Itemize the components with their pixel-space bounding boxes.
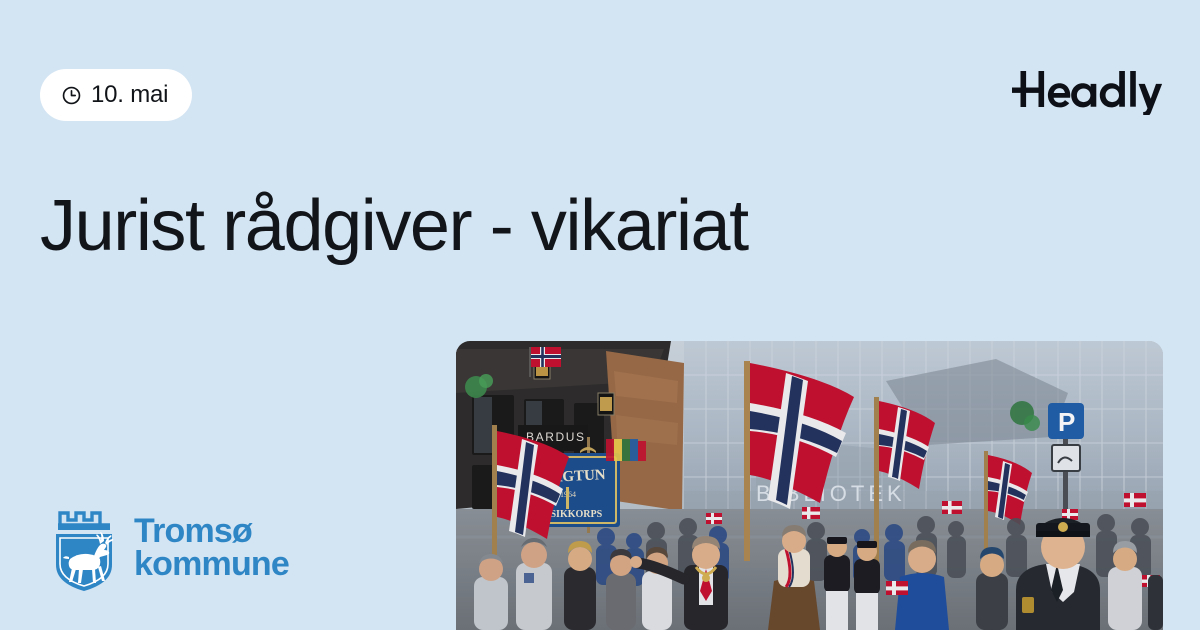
municipality-name-line-1: Tromsø [134, 515, 289, 548]
clock-icon [61, 85, 82, 106]
social-share-card: 10. mai Jurist rådgiver - vikar [0, 0, 1200, 630]
date-label: 10. mai [91, 83, 168, 107]
parade-photo-illustration: BIBLIOTEK [456, 341, 1163, 630]
tromso-kommune-logo: Tromsø kommune [48, 503, 289, 593]
date-badge: 10. mai [40, 69, 192, 121]
page-title: Jurist rådgiver - vikariat [40, 186, 1130, 267]
municipality-name: Tromsø kommune [134, 515, 289, 582]
headly-logo [1012, 62, 1162, 116]
municipality-name-line-2: kommune [134, 548, 289, 581]
article-photo: BIBLIOTEK [456, 341, 1163, 630]
headly-wordmark-icon [1012, 63, 1162, 115]
tromso-kommune-crest-icon [48, 503, 120, 593]
